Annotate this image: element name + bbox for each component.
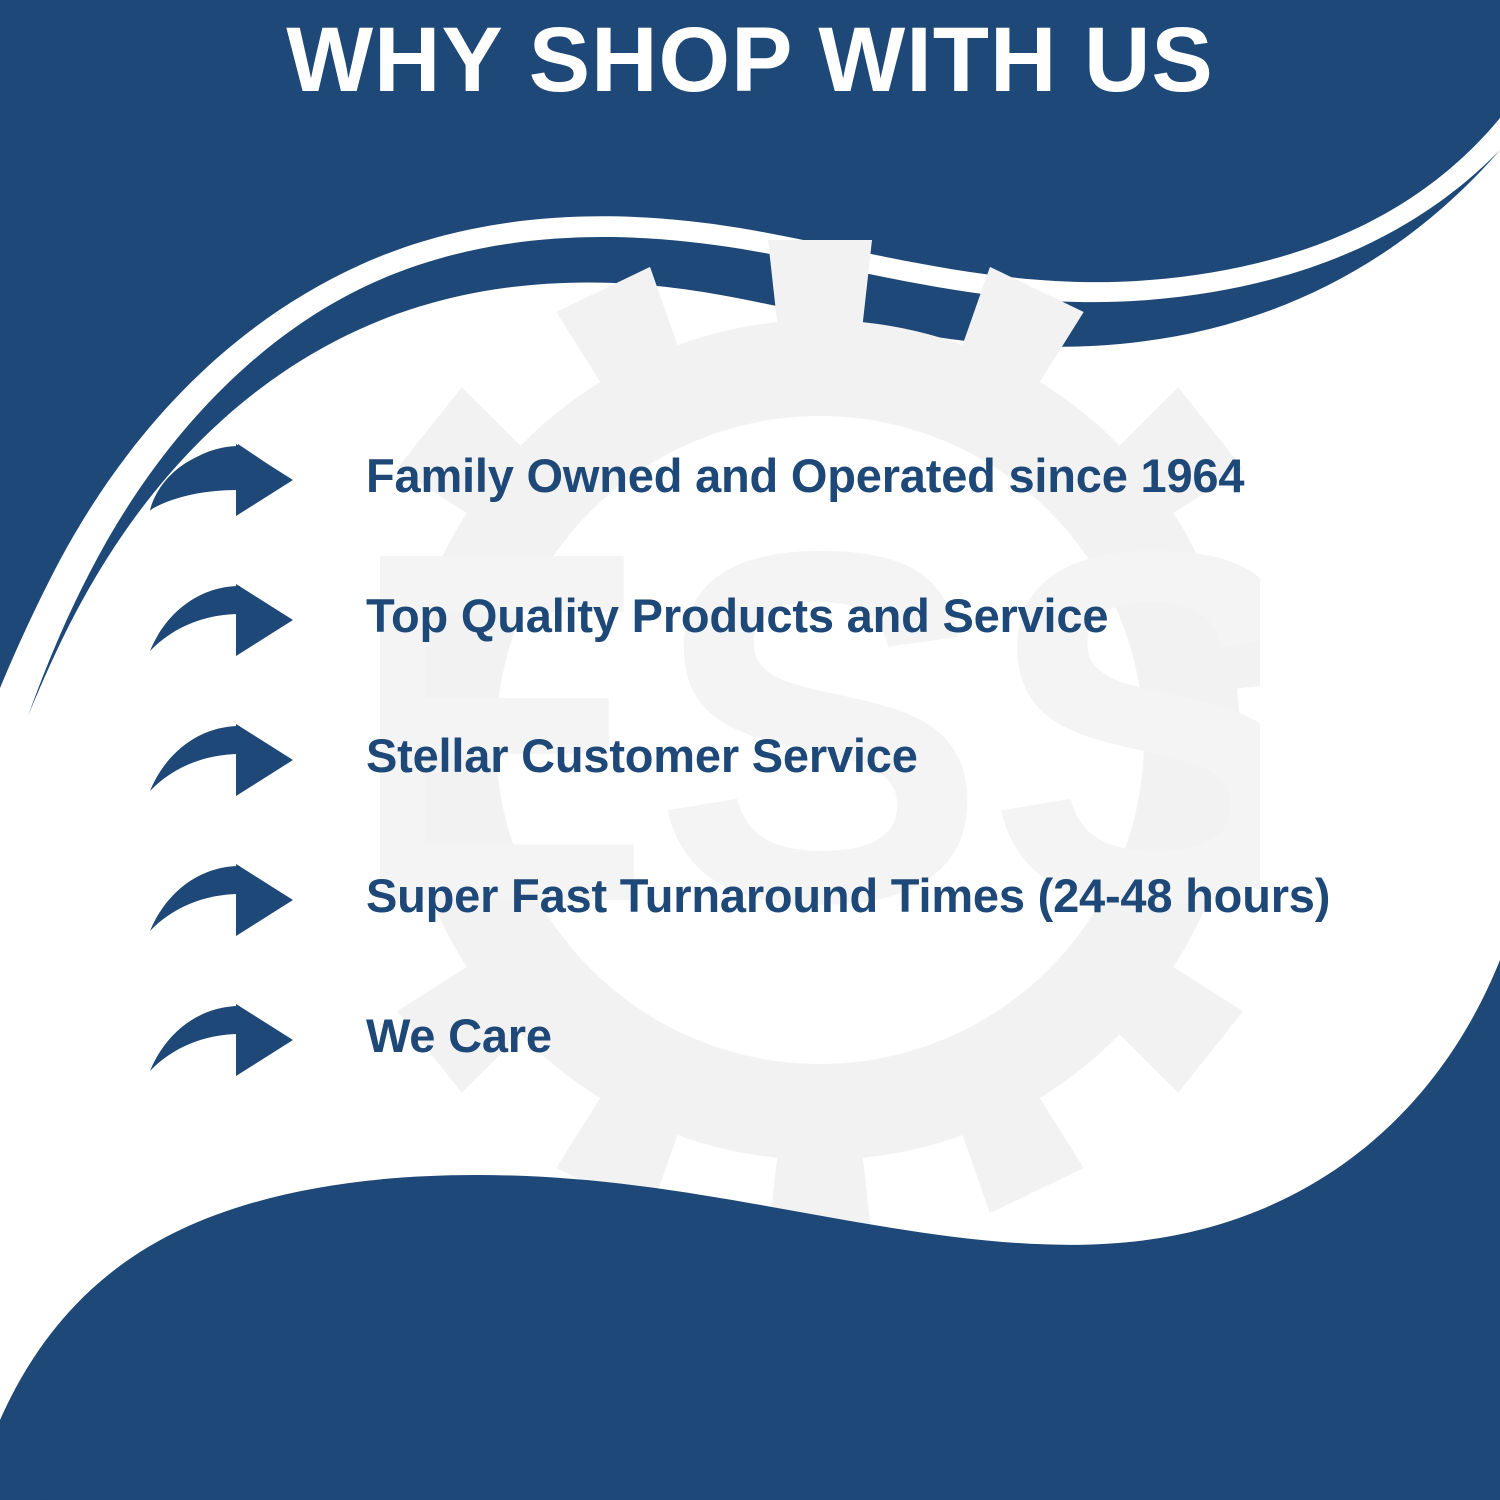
list-item-label: Top Quality Products and Service	[366, 588, 1108, 644]
list-item-label: Stellar Customer Service	[366, 728, 918, 784]
list-item-label: Family Owned and Operated since 1964	[366, 448, 1244, 504]
curved-arrow-right-icon	[150, 864, 300, 940]
curved-arrow-right-icon	[150, 724, 300, 800]
curved-arrow-right-icon	[150, 584, 300, 660]
page-title: WHY SHOP WITH US	[0, 12, 1500, 109]
curved-arrow-right-icon	[150, 1004, 300, 1080]
list-item: Super Fast Turnaround Times (24-48 hours…	[0, 850, 1500, 990]
list-item-label: We Care	[366, 1008, 552, 1064]
benefits-list: Family Owned and Operated since 1964 Top…	[0, 430, 1500, 1130]
bottom-wave-sliver	[24, 1150, 1500, 1500]
list-item: Family Owned and Operated since 1964	[0, 430, 1500, 570]
list-item: Top Quality Products and Service	[0, 570, 1500, 710]
list-item: Stellar Customer Service	[0, 710, 1500, 850]
curved-arrow-right-icon	[150, 444, 300, 520]
why-shop-with-us-banner: ESS WHY SHOP WITH US Family Owned and Op…	[0, 0, 1500, 1500]
list-item: We Care	[0, 990, 1500, 1130]
list-item-label: Super Fast Turnaround Times (24-48 hours…	[366, 868, 1330, 924]
